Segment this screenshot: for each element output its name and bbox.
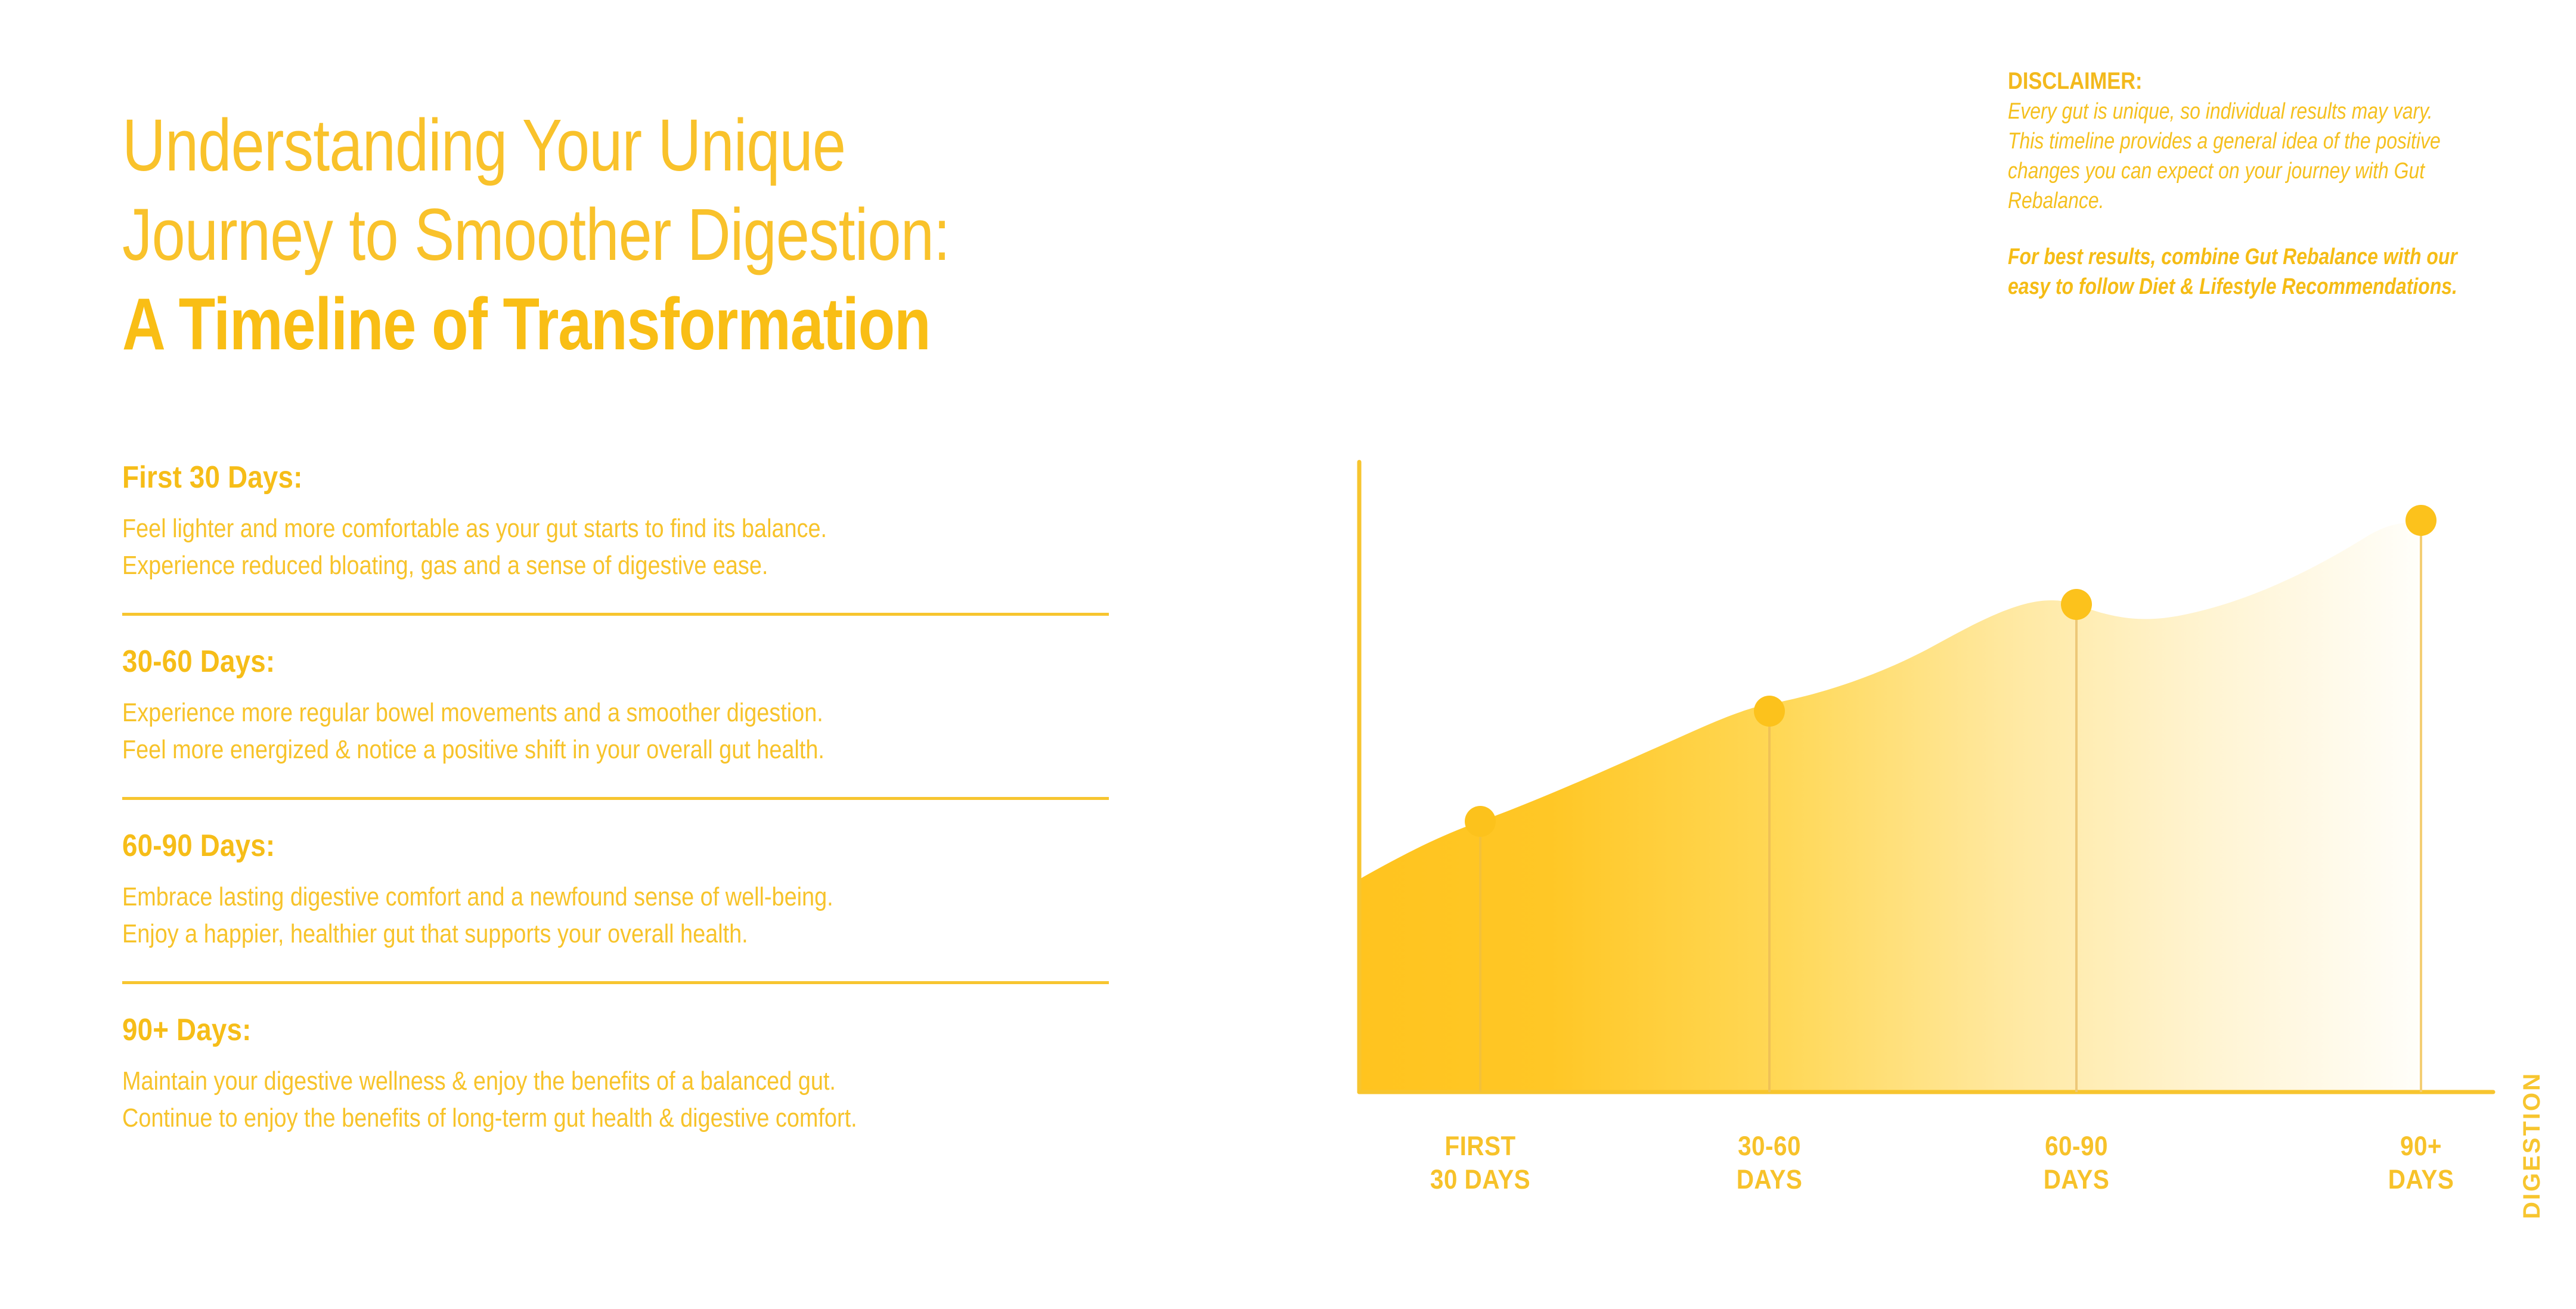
chart-x-tick-line-2: DAYS (1673, 1163, 1866, 1196)
page-title: Understanding Your Unique Journey to Smo… (122, 101, 1255, 370)
chart-x-tick-line-1: 60-90 (1980, 1130, 2173, 1163)
timeline-item-body-line-2: Continue to enjoy the benefits of long-t… (122, 1100, 1109, 1137)
chart-x-tick-30-60-days: 30-60 DAYS (1673, 1130, 1866, 1196)
timeline-item-60-90-days: 60-90 Days: Embrace lasting digestive co… (122, 827, 1109, 953)
timeline-item-heading: 30-60 Days: (122, 643, 990, 680)
chart-x-tick-90-plus-days: 90+ DAYS (2324, 1130, 2518, 1196)
timeline-divider (122, 981, 1109, 984)
chart-point-60-90-days[interactable] (2061, 589, 2092, 620)
digestion-area-chart: DIGESTION (1252, 441, 2534, 1222)
timeline-item-body: Maintain your digestive wellness & enjoy… (122, 1063, 1109, 1137)
headline-line-2: Journey to Smoother Digestion: (122, 191, 1051, 280)
timeline-item-first-30-days: First 30 Days: Feel lighter and more com… (122, 459, 1109, 584)
infographic-page: Understanding Your Unique Journey to Smo… (0, 0, 2576, 1309)
timeline-divider (122, 797, 1109, 800)
disclaimer-cta: For best results, combine Gut Rebalance … (2008, 242, 2461, 302)
chart-x-tick-first-30-days: FIRST 30 DAYS (1384, 1130, 1577, 1196)
timeline-item-body-line-2: Experience reduced bloating, gas and a s… (122, 547, 1109, 584)
timeline-item-body-line-1: Feel lighter and more comfortable as you… (122, 510, 1109, 547)
chart-x-tick-line-2: 30 DAYS (1384, 1163, 1577, 1196)
timeline-item-90-plus-days: 90+ Days: Maintain your digestive wellne… (122, 1012, 1109, 1137)
timeline-item-body-line-1: Maintain your digestive wellness & enjoy… (122, 1063, 1109, 1100)
disclaimer-block: DISCLAIMER: Every gut is unique, so indi… (2008, 66, 2461, 302)
timeline-item-body-line-1: Embrace lasting digestive comfort and a … (122, 879, 1109, 916)
chart-x-axis-labels: FIRST 30 DAYS 30-60 DAYS 60-90 DAYS 90+ … (1252, 1130, 2534, 1207)
chart-area-fill (1359, 520, 2421, 1092)
timeline-item-body: Embrace lasting digestive comfort and a … (122, 879, 1109, 953)
timeline-item-body-line-1: Experience more regular bowel movements … (122, 694, 1109, 731)
chart-x-tick-line-2: DAYS (1980, 1163, 2173, 1196)
timeline-item-body: Experience more regular bowel movements … (122, 694, 1109, 768)
timeline-item-30-60-days: 30-60 Days: Experience more regular bowe… (122, 643, 1109, 768)
chart-x-tick-60-90-days: 60-90 DAYS (1980, 1130, 2173, 1196)
timeline-item-body-line-2: Enjoy a happier, healthier gut that supp… (122, 916, 1109, 953)
headline-line-1: Understanding Your Unique (122, 101, 1051, 191)
timeline-item-heading: 60-90 Days: (122, 827, 990, 864)
disclaimer-title: DISCLAIMER: (2008, 66, 2398, 97)
timeline-item-heading: First 30 Days: (122, 459, 990, 496)
chart-x-tick-line-1: 90+ (2324, 1130, 2518, 1163)
chart-plot-area (1252, 441, 2534, 1115)
chart-x-tick-line-1: FIRST (1384, 1130, 1577, 1163)
timeline-list: First 30 Days: Feel lighter and more com… (122, 459, 1109, 1137)
chart-x-tick-line-2: DAYS (2324, 1163, 2518, 1196)
timeline-item-body: Feel lighter and more comfortable as you… (122, 510, 1109, 584)
timeline-item-heading: 90+ Days: (122, 1012, 990, 1049)
timeline-item-body-line-2: Feel more energized & notice a positive … (122, 731, 1109, 768)
chart-point-30-60-days[interactable] (1754, 696, 1785, 727)
timeline-divider (122, 613, 1109, 616)
chart-point-first-30-days[interactable] (1465, 806, 1496, 837)
headline-line-3: A Timeline of Transformation (122, 280, 1051, 370)
chart-x-tick-line-1: 30-60 (1673, 1130, 1866, 1163)
chart-point-90-plus-days[interactable] (2405, 505, 2436, 536)
disclaimer-body: Every gut is unique, so individual resul… (2008, 97, 2461, 216)
